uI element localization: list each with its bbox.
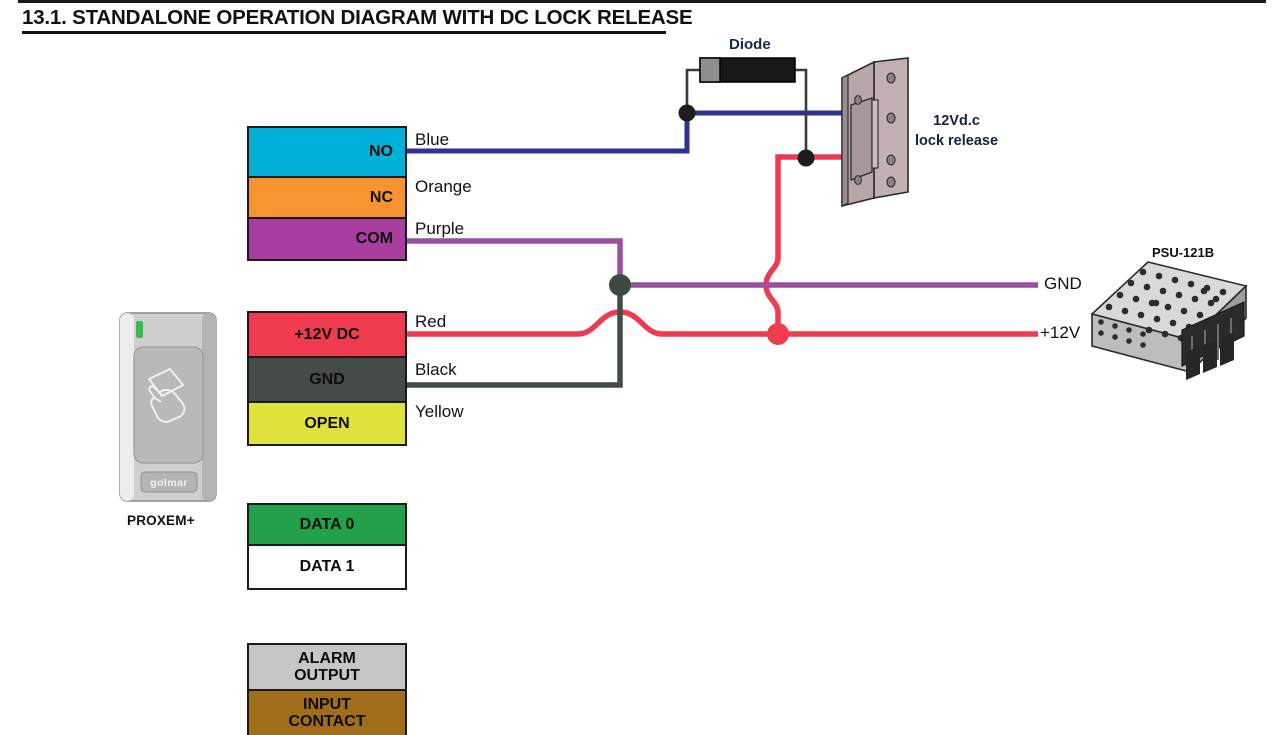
terminal-row-nc[interactable]: NC bbox=[249, 178, 405, 219]
reader-model-label: PROXEM+ bbox=[127, 513, 195, 528]
rail-label-gnd: GND bbox=[1044, 274, 1082, 294]
svg-text:golmar: golmar bbox=[150, 477, 187, 489]
diode-cathode-band bbox=[700, 58, 720, 82]
wire-label-yellow: Yellow bbox=[415, 402, 464, 422]
terminal-row-input-contact[interactable]: INPUT CONTACT bbox=[249, 691, 405, 735]
lock-label-line1: 12Vd.c bbox=[915, 112, 998, 132]
wire-label-red: Red bbox=[415, 312, 446, 332]
psu-unit bbox=[1092, 262, 1246, 380]
electric-door-strike bbox=[842, 58, 908, 206]
junction-dot-diode-blue bbox=[679, 105, 696, 122]
lock-label-line2: lock release bbox=[915, 132, 998, 152]
terminal-row-open[interactable]: OPEN bbox=[249, 403, 405, 444]
wiring-layer: golmar bbox=[0, 0, 1288, 735]
lock-release-label: 12Vd.c lock release bbox=[915, 112, 998, 151]
alarm-terminal-block: ALARM OUTPUT INPUT CONTACT bbox=[247, 643, 407, 735]
psu-label: PSU-121B bbox=[1152, 245, 1214, 260]
rail-label-12v: +12V bbox=[1040, 323, 1080, 343]
wire-label-orange: Orange bbox=[415, 177, 472, 197]
terminal-row-alarm-output[interactable]: ALARM OUTPUT bbox=[249, 645, 405, 691]
wire-label-black: Black bbox=[415, 360, 457, 380]
terminal-row-12vdc[interactable]: +12V DC bbox=[249, 313, 405, 358]
terminal-row-data0[interactable]: DATA 0 bbox=[249, 505, 405, 546]
junction-dot-12v bbox=[767, 323, 789, 345]
terminal-row-gnd[interactable]: GND bbox=[249, 358, 405, 403]
wire-red-lock-branch bbox=[766, 157, 842, 334]
alarm-output-line1: ALARM bbox=[298, 650, 356, 667]
junction-dot-gnd bbox=[609, 274, 631, 296]
wire-purple bbox=[406, 241, 1030, 285]
terminal-row-com[interactable]: COM bbox=[249, 219, 405, 259]
relay-terminal-block: NO NC COM bbox=[247, 126, 407, 261]
status-led-green bbox=[136, 321, 143, 338]
terminal-row-no[interactable]: NO bbox=[249, 128, 405, 178]
input-contact-line1: INPUT bbox=[303, 696, 351, 713]
wire-blue bbox=[406, 113, 842, 151]
proxem-reader: golmar bbox=[120, 313, 216, 501]
data-terminal-block: DATA 0 DATA 1 bbox=[247, 503, 407, 590]
diode-label: Diode bbox=[729, 36, 771, 53]
input-contact-line2: CONTACT bbox=[288, 713, 365, 730]
power-terminal-block: +12V DC GND OPEN bbox=[247, 311, 407, 446]
terminal-row-data1[interactable]: DATA 1 bbox=[249, 546, 405, 588]
junction-dot-diode-red bbox=[798, 150, 815, 167]
wire-label-purple: Purple bbox=[415, 219, 464, 239]
wire-red-main bbox=[406, 312, 1030, 334]
wire-label-blue: Blue bbox=[415, 130, 449, 150]
alarm-output-line2: OUTPUT bbox=[294, 667, 360, 684]
